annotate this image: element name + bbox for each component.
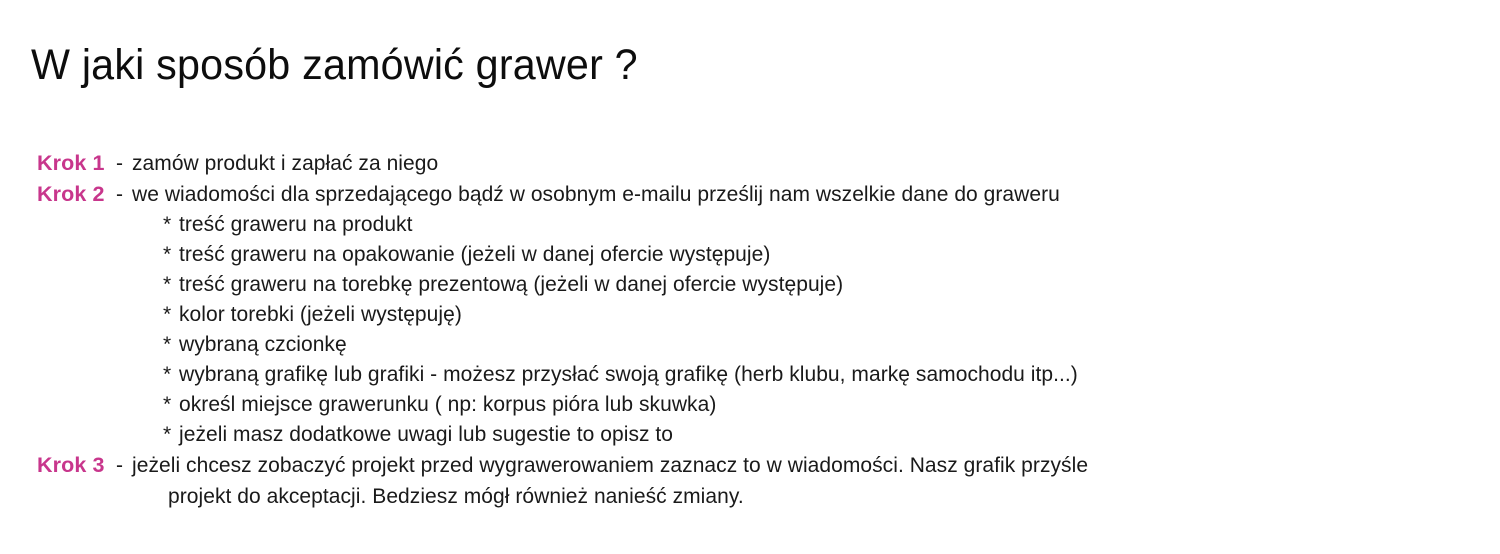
list-item: * jeżeli masz dodatkowe uwagi lub sugest… — [0, 420, 1500, 450]
step-label-3: Krok 3 — [0, 450, 116, 480]
step-text-3: jeżeli chcesz zobaczyć projekt przed wyg… — [132, 451, 1088, 481]
asterisk-icon: * — [163, 360, 179, 390]
list-item-label: wybraną grafikę lub grafiki - możesz prz… — [179, 360, 1078, 390]
list-item: * wybraną czcionkę — [0, 330, 1500, 360]
step-row-2: Krok 2 - we wiadomości dla sprzedającego… — [0, 179, 1500, 210]
step-dash-1: - — [116, 149, 132, 179]
step-label-1: Krok 1 — [0, 148, 116, 178]
list-item-label: treść graweru na produkt — [179, 210, 412, 240]
asterisk-icon: * — [163, 210, 179, 240]
step-row-3: Krok 3 - jeżeli chcesz zobaczyć projekt … — [0, 450, 1500, 481]
step-dash-2: - — [116, 180, 132, 210]
step-text-2: we wiadomości dla sprzedającego bądź w o… — [132, 180, 1060, 210]
steps-list: Krok 1 - zamów produkt i zapłać za niego… — [0, 148, 1500, 512]
list-item-label: treść graweru na torebkę prezentową (jeż… — [179, 270, 843, 300]
list-item-label: wybraną czcionkę — [179, 330, 347, 360]
asterisk-icon: * — [163, 300, 179, 330]
list-item-label: jeżeli masz dodatkowe uwagi lub sugestie… — [179, 420, 673, 450]
asterisk-icon: * — [163, 330, 179, 360]
step-label-2: Krok 2 — [0, 179, 116, 209]
asterisk-icon: * — [163, 270, 179, 300]
list-item-label: określ miejsce grawerunku ( np: korpus p… — [179, 390, 716, 420]
step-dash-3: - — [116, 451, 132, 481]
list-item: * kolor torebki (jeżeli występuję) — [0, 300, 1500, 330]
list-item: * treść graweru na produkt — [0, 210, 1500, 240]
list-item: * wybraną grafikę lub grafiki - możesz p… — [0, 360, 1500, 390]
list-item: * treść graweru na opakowanie (jeżeli w … — [0, 240, 1500, 270]
asterisk-icon: * — [163, 420, 179, 450]
step-2-bullet-list: * treść graweru na produkt * treść grawe… — [0, 210, 1500, 450]
instructions-page: W jaki sposób zamówić grawer ? Krok 1 - … — [0, 0, 1500, 554]
asterisk-icon: * — [163, 390, 179, 420]
step-text-3-continuation: projekt do akceptacji. Bedziesz mógł rów… — [0, 481, 1500, 512]
list-item: * określ miejsce grawerunku ( np: korpus… — [0, 390, 1500, 420]
asterisk-icon: * — [163, 240, 179, 270]
step-text-1: zamów produkt i zapłać za niego — [132, 149, 438, 179]
list-item-label: kolor torebki (jeżeli występuję) — [179, 300, 462, 330]
page-title: W jaki sposób zamówić grawer ? — [31, 37, 638, 93]
step-row-1: Krok 1 - zamów produkt i zapłać za niego — [0, 148, 1500, 179]
list-item-label: treść graweru na opakowanie (jeżeli w da… — [179, 240, 770, 270]
list-item: * treść graweru na torebkę prezentową (j… — [0, 270, 1500, 300]
